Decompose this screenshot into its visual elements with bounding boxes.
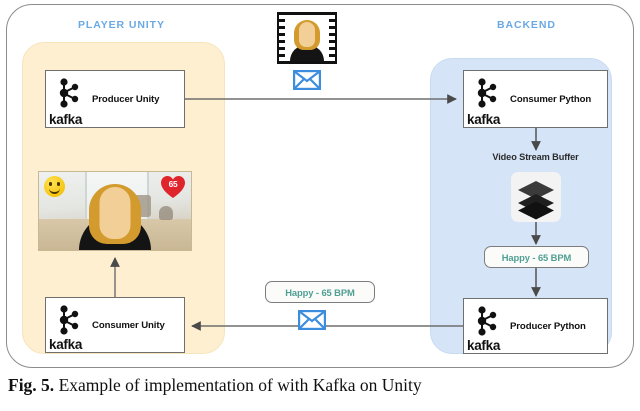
heart-icon: 65 xyxy=(160,175,186,199)
figure-number: Fig. 5. xyxy=(8,375,54,395)
video-preview[interactable]: 65 xyxy=(38,171,192,251)
film-strip-video-icon xyxy=(277,12,337,64)
consumer-unity-label: Consumer Unity xyxy=(92,320,165,331)
kafka-logo-icon: kafka xyxy=(46,71,92,127)
envelope-icon xyxy=(293,70,321,90)
smiling-face-icon xyxy=(44,176,65,197)
kafka-brand-text: kafka xyxy=(467,113,500,127)
figure-caption: Fig. 5. Example of implementation of wit… xyxy=(8,375,634,397)
consumer-python-node[interactable]: kafka Consumer Python xyxy=(463,70,608,128)
video-stream-buffer-label: Video Stream Buffer xyxy=(458,152,613,162)
kafka-logo-icon: kafka xyxy=(464,299,510,353)
producer-unity-node[interactable]: kafka Producer Unity xyxy=(45,70,185,128)
envelope-icon xyxy=(298,310,326,330)
figure-caption-text: Example of implementation of with Kafka … xyxy=(54,375,421,395)
kafka-logo-icon: kafka xyxy=(464,71,510,127)
backend-section-title: BACKEND xyxy=(497,19,556,31)
producer-unity-label: Producer Unity xyxy=(92,94,159,105)
consumer-python-label: Consumer Python xyxy=(510,94,591,105)
kafka-brand-text: kafka xyxy=(467,339,500,353)
player-unity-section-title: PLAYER UNITY xyxy=(78,19,165,31)
producer-python-label: Producer Python xyxy=(510,321,586,332)
message-pill-backend: Happy - 65 BPM xyxy=(484,246,589,268)
kafka-brand-text: kafka xyxy=(49,338,82,352)
bpm-value: 65 xyxy=(160,179,186,189)
person-face xyxy=(100,187,131,239)
producer-python-node[interactable]: kafka Producer Python xyxy=(463,298,608,354)
consumer-unity-node[interactable]: kafka Consumer Unity xyxy=(45,297,185,353)
kafka-logo-icon: kafka xyxy=(46,298,92,352)
message-pill-middle: Happy - 65 BPM xyxy=(265,281,375,303)
kafka-brand-text: kafka xyxy=(49,113,82,127)
layers-stack-icon xyxy=(511,172,561,222)
background-object xyxy=(159,206,173,220)
